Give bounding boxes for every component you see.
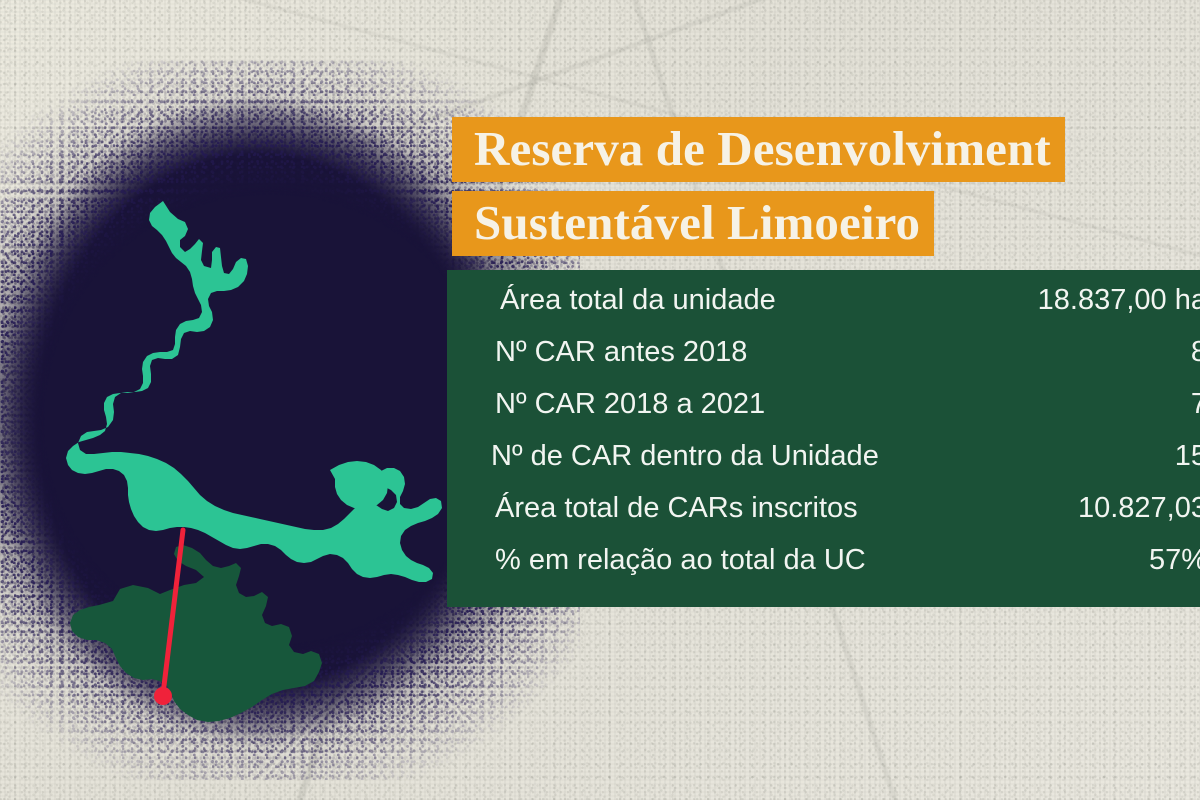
reserve-east-tail <box>330 461 388 509</box>
row-label: Área total de CARs inscritos <box>447 492 858 525</box>
state-outline-inset-shape <box>70 545 322 722</box>
title-line-2: Sustentável Limoeiro <box>452 191 934 256</box>
location-marker-dot <box>154 687 172 705</box>
row-value: 10.827,03 <box>1078 492 1200 525</box>
row-value: 8 <box>1191 336 1200 369</box>
page-title: Reserva de Desenvolviment Sustentável Li… <box>452 117 1065 256</box>
row-label: Nº CAR 2018 a 2021 <box>447 388 765 421</box>
table-row: Área total da unidade 18.837,00 ha <box>447 284 1200 336</box>
reserva-limoeiro-boundary-shape <box>66 201 442 582</box>
row-label: Área total da unidade <box>447 284 776 317</box>
title-line-1: Reserva de Desenvolviment <box>452 117 1065 182</box>
row-label: Nº de CAR dentro da Unidade <box>447 440 879 473</box>
row-value: 18.837,00 ha <box>1038 284 1200 317</box>
statistics-panel: Área total da unidade 18.837,00 ha Nº CA… <box>447 270 1200 607</box>
table-row: Nº CAR 2018 a 2021 7 <box>447 388 1200 440</box>
table-row: Nº de CAR dentro da Unidade 15 <box>447 440 1200 492</box>
table-row: % em relação ao total da UC 57% <box>447 544 1200 596</box>
row-value: 7 <box>1191 388 1200 421</box>
table-row: Área total de CARs inscritos 10.827,03 <box>447 492 1200 544</box>
row-value: 57% <box>1149 544 1200 577</box>
row-label: Nº CAR antes 2018 <box>447 336 747 369</box>
table-row: Nº CAR antes 2018 8 <box>447 336 1200 388</box>
row-value: 15 <box>1175 440 1200 473</box>
row-label: % em relação ao total da UC <box>447 544 866 577</box>
